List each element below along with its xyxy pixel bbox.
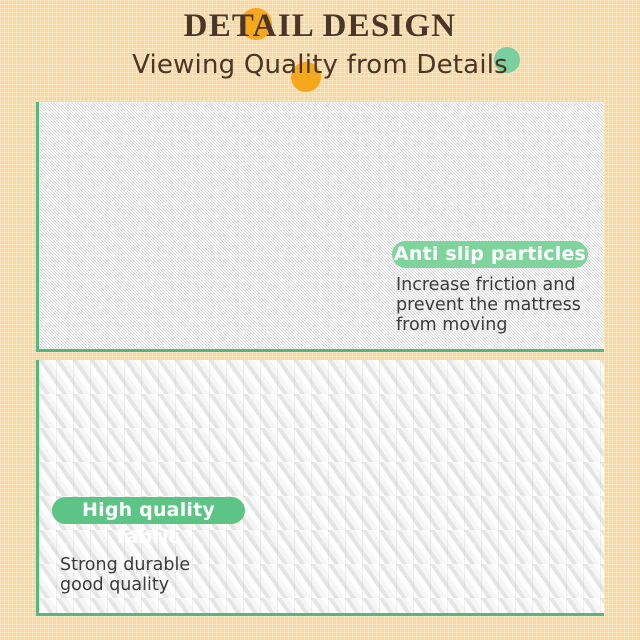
header: DETAIL DESIGN Viewing Quality from Detai… [0, 0, 640, 100]
badge-high-quality-fabric: High quality fabric [52, 497, 245, 524]
detail-design-banner: DETAIL DESIGN Viewing Quality from Detai… [0, 0, 640, 640]
description-anti-slip: Increase friction and prevent the mattre… [396, 275, 588, 335]
page-subtitle: Viewing Quality from Details [0, 50, 640, 80]
page-title: DETAIL DESIGN [0, 8, 640, 45]
callout-high-quality-fabric: High quality fabric Strong durable good … [52, 497, 245, 595]
callout-anti-slip: Anti slip particles Increase friction an… [392, 241, 588, 335]
description-high-quality-fabric: Strong durable good quality [60, 555, 245, 595]
badge-anti-slip-particles: Anti slip particles [392, 241, 588, 268]
